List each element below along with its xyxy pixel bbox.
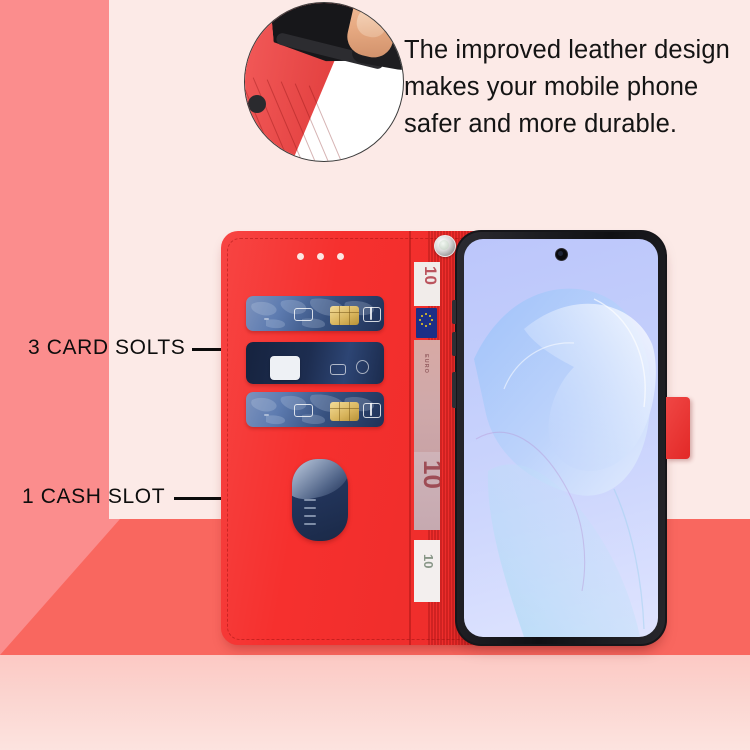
wallpaper-waves [464,239,658,637]
banknote-value-large: 10 [417,460,440,489]
headline-text: The improved leather design makes your m… [404,32,744,143]
headline-line-2: makes your mobile phone [404,69,744,106]
magnetic-closure-tab[interactable] [666,397,690,459]
product-feature-scene: The improved leather design makes your m… [0,0,750,750]
inset-corner-detail [248,95,266,113]
spine-rib [449,231,451,645]
card-2-white-label [270,356,300,380]
rivet-icon [317,253,324,260]
card-3-logo-icon [294,404,313,417]
card-slot-3[interactable] [246,392,384,427]
card-1-logo-icon [294,308,313,321]
card-2-logo-icon [330,364,346,375]
cash-pocket[interactable] [292,459,348,541]
volume-down-button[interactable] [452,332,456,356]
magnetic-clasp-inner [439,240,449,250]
card-1-badge-icon [363,307,381,322]
card-1-badge-divider [370,307,372,320]
card-3-badge-divider [370,403,372,416]
banknote-text: EURO [423,354,429,444]
card-slot-1[interactable] [246,296,384,331]
card-slot-2[interactable] [246,342,384,384]
spine-rib [452,231,454,645]
closure-tab-sheen [666,397,690,459]
volume-up-button[interactable] [452,300,456,324]
leather-closeup-inset [244,2,404,162]
banknote-value-top: 10 [420,266,440,285]
banknote-10-euro: 10 EURO 10 10 [414,262,440,602]
bottom-light-band [0,655,750,750]
callout-label-card-slots: 3 CARD SOLTS [28,336,185,360]
phone-device[interactable] [455,230,667,646]
spine-rib [440,231,442,645]
card-1-stripe [264,318,269,320]
headline-line-3: safer and more durable. [404,106,744,143]
cash-pocket-line [304,499,316,501]
spine-rib [443,231,445,645]
cash-pocket-line [304,523,316,525]
banknote-value-bottom: 10 [421,554,436,568]
cash-pocket-highlight [292,459,348,503]
cash-pocket-line [304,507,316,509]
card-2-badge-icon [356,360,369,374]
eu-flag-icon [416,308,437,338]
callout-label-cash-slot: 1 CASH SLOT [22,485,165,509]
card-1-chip-icon [330,306,359,325]
front-camera-lens [558,251,563,256]
spine-rib [446,231,448,645]
card-3-badge-icon [363,403,381,418]
card-3-stripe [264,414,269,416]
headline-line-1: The improved leather design [404,32,744,69]
cash-pocket-line [304,515,316,517]
card-3-chip-icon [330,402,359,421]
power-button[interactable] [452,372,456,408]
rivet-icon [297,253,304,260]
banknote-bottom-panel [414,540,440,602]
rivet-icon [337,253,344,260]
phone-screen[interactable] [464,239,658,637]
case-fold-line [409,231,411,645]
